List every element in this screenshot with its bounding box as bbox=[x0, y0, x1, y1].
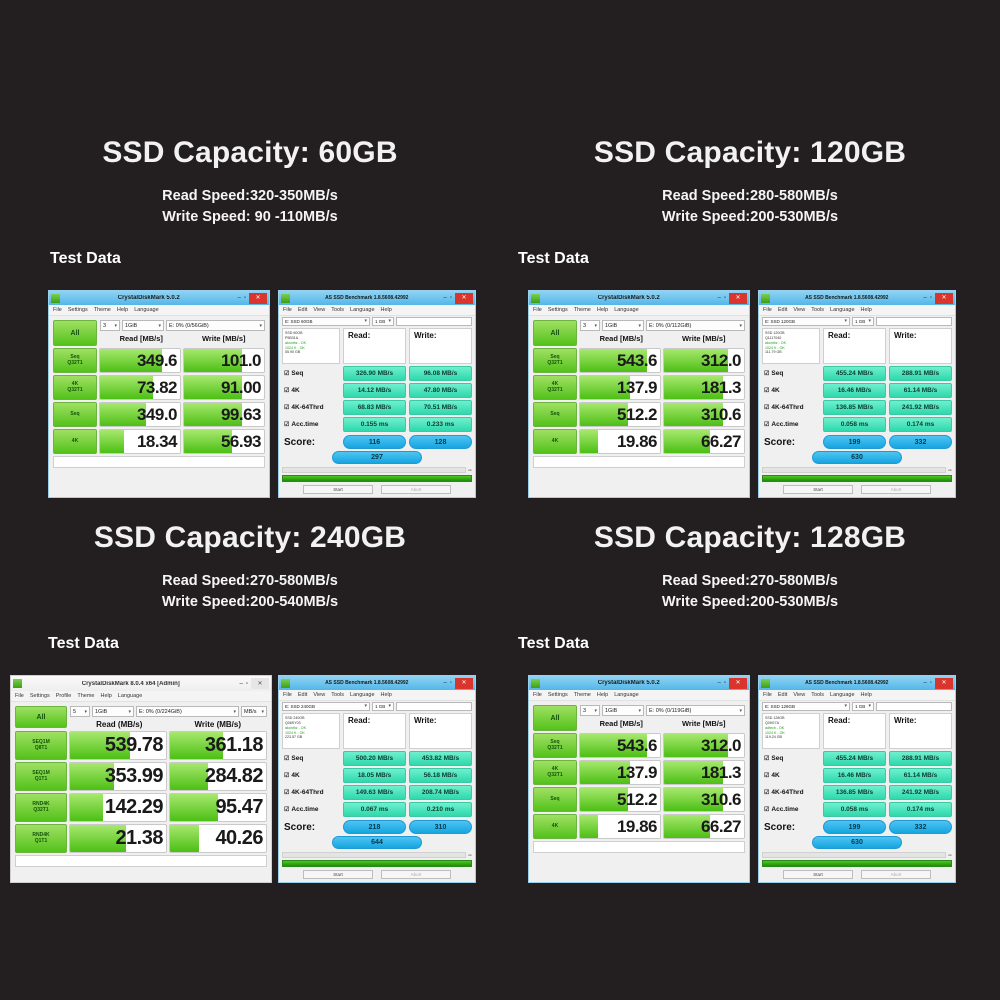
result-row: RND4KQ1T121.3840.26 bbox=[15, 824, 267, 853]
maximize-button[interactable]: ▫ bbox=[246, 681, 248, 687]
menu-item-help[interactable]: Help bbox=[861, 307, 872, 313]
read-value-cell: 142.29 bbox=[69, 793, 167, 822]
screenshot-group: CrystalDiskMark 5.0.2–▫✕FileSettingsThem… bbox=[48, 290, 476, 498]
read-value-cell: 512.2 bbox=[579, 402, 661, 427]
menu-item-help[interactable]: Help bbox=[861, 692, 872, 698]
read-value-cell: 14.12 MB/s bbox=[343, 383, 406, 398]
menu-item-language[interactable]: Language bbox=[350, 307, 374, 313]
result-row: ☑4K16.46 MB/s61.14 MB/s bbox=[762, 383, 952, 398]
minimize-button[interactable]: – bbox=[444, 680, 447, 686]
menu-item-settings[interactable]: Settings bbox=[68, 307, 88, 313]
menu-item-help[interactable]: Help bbox=[597, 692, 608, 698]
row-label[interactable]: 4K bbox=[53, 429, 97, 454]
score-label: Score: bbox=[282, 820, 340, 834]
read-speed-text: Read Speed:320-350MB/s bbox=[0, 186, 500, 207]
window-title: AS SSD Benchmark 1.8.5608.42992 bbox=[293, 680, 441, 686]
read-value-cell: 16.46 MB/s bbox=[823, 383, 886, 398]
test-name: Seq bbox=[291, 755, 303, 762]
row-label[interactable]: Seq bbox=[533, 787, 577, 812]
minimize-button[interactable]: – bbox=[924, 680, 927, 686]
test-checkbox-row[interactable]: ☑Seq bbox=[762, 751, 820, 766]
row-label[interactable]: 4KQ32T1 bbox=[533, 375, 577, 400]
minimize-button[interactable]: – bbox=[240, 681, 243, 687]
menu-item-theme[interactable]: Theme bbox=[574, 307, 591, 313]
menu-item-theme[interactable]: Theme bbox=[94, 307, 111, 313]
test-checkbox-row[interactable]: ☑Acc.time bbox=[762, 417, 820, 432]
write-value-cell: 241.92 MB/s bbox=[889, 785, 952, 800]
close-button[interactable]: ✕ bbox=[455, 678, 473, 689]
close-button[interactable]: ✕ bbox=[729, 678, 747, 689]
checkbox-checked-icon[interactable]: ☑ bbox=[764, 755, 769, 762]
test-size-select[interactable]: 1GiB bbox=[602, 705, 644, 716]
maximize-button[interactable]: ▫ bbox=[930, 680, 932, 686]
value-number: 310.6 bbox=[701, 790, 741, 810]
result-row: 4KQ32T1137.9181.3 bbox=[533, 375, 745, 400]
spacer bbox=[270, 290, 278, 498]
test-name: Seq bbox=[771, 370, 783, 377]
result-row: ☑4K14.12 MB/s47.80 MB/s bbox=[282, 383, 472, 398]
app-icon bbox=[13, 679, 22, 688]
value-number: 101.0 bbox=[221, 351, 261, 371]
capacity-title: SSD Capacity: 60GB bbox=[0, 118, 500, 170]
row-label[interactable]: 4KQ32T1 bbox=[53, 375, 97, 400]
menu-item-theme[interactable]: Theme bbox=[77, 693, 94, 699]
result-row: SeqQ32T1349.6101.0 bbox=[53, 348, 265, 373]
size-select[interactable]: 1 GB bbox=[852, 702, 874, 711]
test-checkbox-row[interactable]: ☑4K-64Thrd bbox=[282, 785, 340, 800]
test-size-select[interactable]: 1GiB bbox=[92, 706, 134, 717]
result-row: SeqQ32T1543.6312.0 bbox=[533, 348, 745, 373]
score-total: 630 bbox=[812, 836, 902, 849]
window-title: AS SSD Benchmark 1.8.5608.42992 bbox=[773, 295, 921, 301]
horizontal-scrollbar[interactable] bbox=[282, 467, 466, 473]
row-label-primary: 4K bbox=[552, 439, 558, 445]
menu-item-view[interactable]: View bbox=[313, 307, 325, 313]
window-controls: –▫✕ bbox=[715, 293, 747, 304]
close-button[interactable]: ✕ bbox=[729, 293, 747, 304]
test-checkbox-row[interactable]: ☑4K-64Thrd bbox=[762, 785, 820, 800]
result-row: ☑Acc.time0.058 ms0.174 ms bbox=[762, 417, 952, 432]
copy-name-field[interactable] bbox=[876, 702, 952, 711]
menu-item-tools[interactable]: Tools bbox=[811, 307, 824, 313]
row-label[interactable]: Seq bbox=[53, 402, 97, 427]
drive-select[interactable]: E: SSD 240GB bbox=[282, 702, 370, 711]
row-label-primary: Seq bbox=[550, 797, 559, 803]
toolbar: E: SSD 120GB1 GB bbox=[759, 316, 955, 326]
drive-select[interactable]: E: 0% (0/112GiB) bbox=[646, 320, 745, 331]
write-value-cell: 0.233 ms bbox=[409, 417, 472, 432]
all-button[interactable]: All bbox=[533, 705, 577, 731]
all-button[interactable]: All bbox=[15, 706, 67, 728]
test-checkbox-row[interactable]: ☑4K-64Thrd bbox=[762, 400, 820, 415]
drive-info-line: 55.90 GB bbox=[285, 350, 337, 355]
write-value-cell: 95.47 bbox=[169, 793, 267, 822]
menu-item-language[interactable]: Language bbox=[118, 693, 142, 699]
menu-item-profile[interactable]: Profile bbox=[56, 693, 72, 699]
test-size-select[interactable]: 1GiB bbox=[602, 320, 644, 331]
checkbox-checked-icon[interactable]: ☑ bbox=[284, 387, 289, 394]
as-ssd-window: AS SSD Benchmark 1.8.5608.42992–▫✕FileEd… bbox=[278, 675, 476, 883]
panel-120gb: SSD Capacity: 120GBRead Speed:280-580MB/… bbox=[500, 118, 1000, 503]
menu-item-help[interactable]: Help bbox=[381, 307, 392, 313]
window-title: AS SSD Benchmark 1.8.5608.42992 bbox=[773, 680, 921, 686]
result-row: SeqQ32T1543.6312.0 bbox=[533, 733, 745, 758]
value-number: 40.26 bbox=[215, 827, 263, 850]
read-value-cell: 19.86 bbox=[579, 814, 661, 839]
app-icon bbox=[531, 679, 540, 688]
menu-bar: FileEditViewToolsLanguageHelp bbox=[759, 690, 955, 701]
maximize-button[interactable]: ▫ bbox=[244, 295, 246, 301]
value-number: 19.86 bbox=[617, 432, 657, 452]
row-label[interactable]: 4K bbox=[533, 429, 577, 454]
test-checkbox-row[interactable]: ☑Seq bbox=[282, 751, 340, 766]
write-value-cell: 56.18 MB/s bbox=[409, 768, 472, 783]
window-controls: –▫✕ bbox=[237, 678, 269, 689]
test-checkbox-row[interactable]: ☑4K bbox=[762, 768, 820, 783]
menu-bar: FileSettingsProfileThemeHelpLanguage bbox=[11, 691, 271, 702]
horizontal-scrollbar[interactable] bbox=[762, 852, 946, 858]
read-column-header: Read [MB/s] bbox=[100, 334, 183, 343]
score-read: 199 bbox=[823, 820, 886, 834]
checkbox-checked-icon[interactable]: ☑ bbox=[764, 772, 769, 779]
checkbox-checked-icon[interactable]: ☑ bbox=[764, 404, 769, 411]
row-label[interactable]: SEQ1MQ1T1 bbox=[15, 762, 67, 791]
read-value-cell: 0.058 ms bbox=[823, 802, 886, 817]
result-rows: SeqQ32T1349.6101.04KQ32T173.8291.00Seq34… bbox=[53, 348, 265, 454]
menu-item-file[interactable]: File bbox=[763, 692, 772, 698]
score-write: 332 bbox=[889, 820, 952, 834]
abort-button[interactable]: Abort bbox=[381, 485, 451, 494]
score-label: Score: bbox=[762, 820, 820, 834]
row-label[interactable]: Seq bbox=[533, 402, 577, 427]
menu-item-edit[interactable]: Edit bbox=[298, 307, 307, 313]
checkbox-checked-icon[interactable]: ☑ bbox=[284, 404, 289, 411]
menu-item-help[interactable]: Help bbox=[117, 307, 128, 313]
result-row: 4KQ32T173.8291.00 bbox=[53, 375, 265, 400]
menu-item-language[interactable]: Language bbox=[614, 692, 638, 698]
menu-item-file[interactable]: File bbox=[15, 693, 24, 699]
progress-bar bbox=[282, 860, 472, 867]
result-row: SEQ1MQ1T1353.99284.82 bbox=[15, 762, 267, 791]
checkbox-checked-icon[interactable]: ☑ bbox=[284, 755, 289, 762]
start-button[interactable]: Start bbox=[783, 485, 853, 494]
scroll-hint: ▸▸ bbox=[468, 468, 472, 472]
score-write: 332 bbox=[889, 435, 952, 449]
minimize-button[interactable]: – bbox=[718, 295, 721, 301]
progress-bar bbox=[762, 475, 952, 482]
read-value-cell: 137.9 bbox=[579, 760, 661, 785]
checkbox-checked-icon[interactable]: ☑ bbox=[764, 387, 769, 394]
all-button[interactable]: All bbox=[53, 320, 97, 346]
screenshot-group: CrystalDiskMark 5.0.2–▫✕FileSettingsThem… bbox=[528, 675, 956, 883]
test-checkbox-row[interactable]: ☑4K bbox=[762, 383, 820, 398]
drive-select[interactable]: E: SSD 60GB bbox=[282, 317, 370, 326]
menu-item-file[interactable]: File bbox=[763, 307, 772, 313]
score-read: 218 bbox=[343, 820, 406, 834]
result-row: ☑4K-64Thrd136.85 MB/s241.92 MB/s bbox=[762, 400, 952, 415]
close-button[interactable]: ✕ bbox=[251, 678, 269, 689]
maximize-button[interactable]: ▫ bbox=[450, 295, 452, 301]
menu-bar: FileEditViewToolsLanguageHelp bbox=[279, 305, 475, 316]
all-button[interactable]: All bbox=[533, 320, 577, 346]
size-select[interactable]: 1 GB bbox=[852, 317, 874, 326]
test-name: Acc.time bbox=[291, 421, 318, 428]
speed-spec: Read Speed:270-580MB/sWrite Speed:200-54… bbox=[0, 571, 500, 613]
menu-item-file[interactable]: File bbox=[533, 307, 542, 313]
scroll-hint: ▸▸ bbox=[948, 468, 952, 472]
maximize-button[interactable]: ▫ bbox=[724, 680, 726, 686]
test-name: 4K bbox=[771, 772, 779, 779]
menu-item-view[interactable]: View bbox=[313, 692, 325, 698]
abort-button[interactable]: Abort bbox=[381, 870, 451, 879]
value-number: 95.47 bbox=[215, 796, 263, 819]
write-value-cell: 288.91 MB/s bbox=[889, 751, 952, 766]
read-value-cell: 512.2 bbox=[579, 787, 661, 812]
write-column-header: Write: bbox=[409, 713, 472, 749]
test-name: 4K-64Thrd bbox=[771, 789, 803, 796]
menu-bar: FileEditViewToolsLanguageHelp bbox=[279, 690, 475, 701]
test-checkbox-row[interactable]: ☑4K bbox=[282, 383, 340, 398]
row-label[interactable]: SeqQ32T1 bbox=[53, 348, 97, 373]
close-button[interactable]: ✕ bbox=[935, 293, 953, 304]
start-button[interactable]: Start bbox=[303, 485, 373, 494]
scroll-hint: ▸▸ bbox=[468, 853, 472, 857]
menu-item-settings[interactable]: Settings bbox=[548, 692, 568, 698]
read-speed-text: Read Speed:270-580MB/s bbox=[0, 571, 500, 592]
result-row: ☑Acc.time0.058 ms0.174 ms bbox=[762, 802, 952, 817]
unit-select[interactable]: MB/s bbox=[241, 706, 267, 717]
menu-item-help[interactable]: Help bbox=[100, 693, 111, 699]
crystaldiskmark-window: CrystalDiskMark 5.0.2–▫✕FileSettingsThem… bbox=[48, 290, 270, 498]
row-label-primary: 4K bbox=[552, 824, 558, 830]
copy-name-field[interactable] bbox=[876, 317, 952, 326]
copy-name-field[interactable] bbox=[396, 317, 472, 326]
read-value-cell: 326.90 MB/s bbox=[343, 366, 406, 381]
write-value-cell: 101.0 bbox=[183, 348, 265, 373]
abort-button[interactable]: Abort bbox=[861, 485, 931, 494]
start-button[interactable]: Start bbox=[783, 870, 853, 879]
test-checkbox-row[interactable]: ☑Acc.time bbox=[282, 417, 340, 432]
read-value-cell: 539.78 bbox=[69, 731, 167, 760]
write-value-cell: 284.82 bbox=[169, 762, 267, 791]
horizontal-scrollbar[interactable] bbox=[762, 467, 946, 473]
test-name: Seq bbox=[771, 755, 783, 762]
row-label[interactable]: 4K bbox=[533, 814, 577, 839]
checkbox-checked-icon[interactable]: ☑ bbox=[284, 421, 289, 428]
window-title: CrystalDiskMark 5.0.2 bbox=[543, 295, 715, 301]
test-data-label: Test Data bbox=[518, 250, 1000, 268]
menu-item-view[interactable]: View bbox=[793, 692, 805, 698]
menu-item-language[interactable]: Language bbox=[830, 692, 854, 698]
test-checkbox-row[interactable]: ☑Seq bbox=[282, 366, 340, 381]
checkbox-checked-icon[interactable]: ☑ bbox=[764, 421, 769, 428]
menu-item-edit[interactable]: Edit bbox=[298, 692, 307, 698]
write-column-header: Write [MB/s] bbox=[663, 334, 746, 343]
menu-item-file[interactable]: File bbox=[283, 692, 292, 698]
row-label[interactable]: 4KQ32T1 bbox=[533, 760, 577, 785]
abort-button[interactable]: Abort bbox=[861, 870, 931, 879]
spacer bbox=[750, 675, 758, 883]
drive-select[interactable]: E: SSD 120GB bbox=[762, 317, 850, 326]
test-name: 4K bbox=[291, 387, 299, 394]
menu-item-help[interactable]: Help bbox=[597, 307, 608, 313]
close-button[interactable]: ✕ bbox=[935, 678, 953, 689]
checkbox-checked-icon[interactable]: ☑ bbox=[284, 370, 289, 377]
row-label-primary: Seq bbox=[550, 412, 559, 418]
drive-select[interactable]: E: SSD 128GB bbox=[762, 702, 850, 711]
checkbox-checked-icon[interactable]: ☑ bbox=[764, 789, 769, 796]
read-speed-text: Read Speed:270-580MB/s bbox=[500, 571, 1000, 592]
row-label[interactable]: RND4KQ1T1 bbox=[15, 824, 67, 853]
read-column-header: Read: bbox=[343, 328, 406, 364]
test-checkbox-row[interactable]: ☑4K bbox=[282, 768, 340, 783]
drive-select[interactable]: E: 0% (0/119GiB) bbox=[646, 705, 745, 716]
row-label-secondary: Q32T1 bbox=[33, 808, 48, 814]
menu-item-language[interactable]: Language bbox=[350, 692, 374, 698]
screenshot-group: CrystalDiskMark 8.0.4 x64 [Admin]–▫✕File… bbox=[10, 675, 476, 883]
row-label[interactable]: SEQ1MQ8T1 bbox=[15, 731, 67, 760]
write-speed-text: Write Speed:200-540MB/s bbox=[0, 592, 500, 613]
checkbox-checked-icon[interactable]: ☑ bbox=[764, 806, 769, 813]
write-value-cell: 56.93 bbox=[183, 429, 265, 454]
score-label: Score: bbox=[282, 435, 340, 449]
menu-item-tools[interactable]: Tools bbox=[331, 307, 344, 313]
menu-item-settings[interactable]: Settings bbox=[548, 307, 568, 313]
run-count-select[interactable]: 3 bbox=[100, 320, 120, 331]
row-label[interactable]: RND4KQ32T1 bbox=[15, 793, 67, 822]
value-number: 543.6 bbox=[617, 736, 657, 756]
test-data-label: Test Data bbox=[518, 635, 1000, 653]
write-value-cell: 70.51 MB/s bbox=[409, 400, 472, 415]
value-number: 353.99 bbox=[105, 765, 163, 788]
spacer bbox=[750, 290, 758, 498]
minimize-button[interactable]: – bbox=[924, 295, 927, 301]
menu-item-help[interactable]: Help bbox=[381, 692, 392, 698]
result-rows: SeqQ32T1543.6312.04KQ32T1137.9181.3Seq51… bbox=[533, 348, 745, 454]
row-label[interactable]: SeqQ32T1 bbox=[533, 348, 577, 373]
app-icon bbox=[281, 679, 290, 688]
row-label-secondary: Q1T1 bbox=[35, 839, 48, 845]
test-data-label: Test Data bbox=[50, 250, 500, 268]
read-speed-text: Read Speed:280-580MB/s bbox=[500, 186, 1000, 207]
maximize-button[interactable]: ▫ bbox=[724, 295, 726, 301]
menu-item-language[interactable]: Language bbox=[134, 307, 158, 313]
maximize-button[interactable]: ▫ bbox=[930, 295, 932, 301]
run-count-select[interactable]: 3 bbox=[580, 320, 600, 331]
write-value-cell: 91.00 bbox=[183, 375, 265, 400]
close-button[interactable]: ✕ bbox=[455, 293, 473, 304]
menu-item-view[interactable]: View bbox=[793, 307, 805, 313]
minimize-button[interactable]: – bbox=[238, 295, 241, 301]
checkbox-checked-icon[interactable]: ☑ bbox=[284, 806, 289, 813]
menu-item-edit[interactable]: Edit bbox=[778, 307, 787, 313]
horizontal-scrollbar[interactable] bbox=[282, 852, 466, 858]
test-checkbox-row[interactable]: ☑4K-64Thrd bbox=[282, 400, 340, 415]
row-label-secondary: Q32T1 bbox=[67, 388, 82, 394]
test-name: 4K-64Thrd bbox=[291, 404, 323, 411]
score-write: 310 bbox=[409, 820, 472, 834]
test-size-select[interactable]: 1GiB bbox=[122, 320, 164, 331]
capacity-title: SSD Capacity: 240GB bbox=[0, 503, 500, 555]
value-bar bbox=[170, 825, 199, 852]
menu-item-edit[interactable]: Edit bbox=[778, 692, 787, 698]
menu-item-tools[interactable]: Tools bbox=[331, 692, 344, 698]
row-label-secondary: Q32T1 bbox=[547, 388, 562, 394]
window-controls: –▫✕ bbox=[715, 678, 747, 689]
menu-item-theme[interactable]: Theme bbox=[574, 692, 591, 698]
drive-select[interactable]: E: 0% (0/56GiB) bbox=[166, 320, 265, 331]
read-value-cell: 73.82 bbox=[99, 375, 181, 400]
run-count-select[interactable]: 3 bbox=[580, 705, 600, 716]
row-label-primary: Seq bbox=[70, 412, 79, 418]
window-title: CrystalDiskMark 5.0.2 bbox=[63, 295, 235, 301]
menu-item-file[interactable]: File bbox=[53, 307, 62, 313]
menu-item-language[interactable]: Language bbox=[830, 307, 854, 313]
drive-info-panel: SSD 120GBQ1117040akonthz - OK1024 K - OK… bbox=[762, 328, 820, 364]
read-column-header: Read [MB/s] bbox=[580, 719, 663, 728]
capacity-title: SSD Capacity: 120GB bbox=[500, 118, 1000, 170]
test-checkbox-row[interactable]: ☑Seq bbox=[762, 366, 820, 381]
menu-item-tools[interactable]: Tools bbox=[811, 692, 824, 698]
test-name: Acc.time bbox=[771, 421, 798, 428]
row-label[interactable]: SeqQ32T1 bbox=[533, 733, 577, 758]
result-row: ☑Acc.time0.155 ms0.233 ms bbox=[282, 417, 472, 432]
write-speed-text: Write Speed:200-530MB/s bbox=[500, 207, 1000, 228]
drive-select[interactable]: E: 0% (0/224GiB) bbox=[136, 706, 239, 717]
score-write: 128 bbox=[409, 435, 472, 449]
window-title: CrystalDiskMark 5.0.2 bbox=[543, 680, 715, 686]
window-controls: –▫✕ bbox=[441, 293, 473, 304]
crystaldiskmark-window: CrystalDiskMark 5.0.2–▫✕FileSettingsThem… bbox=[528, 675, 750, 883]
close-button[interactable]: ✕ bbox=[249, 293, 267, 304]
checkbox-checked-icon[interactable]: ☑ bbox=[284, 772, 289, 779]
read-value-cell: 353.99 bbox=[69, 762, 167, 791]
test-checkbox-row[interactable]: ☑Acc.time bbox=[762, 802, 820, 817]
menu-item-file[interactable]: File bbox=[283, 307, 292, 313]
as-ssd-window: AS SSD Benchmark 1.8.5608.42992–▫✕FileEd… bbox=[278, 290, 476, 498]
result-row: ☑Seq500.20 MB/s453.82 MB/s bbox=[282, 751, 472, 766]
menu-item-language[interactable]: Language bbox=[614, 307, 638, 313]
start-button[interactable]: Start bbox=[303, 870, 373, 879]
copy-name-field[interactable] bbox=[396, 702, 472, 711]
read-value-cell: 149.63 MB/s bbox=[343, 785, 406, 800]
test-name: 4K bbox=[771, 387, 779, 394]
app-icon bbox=[531, 294, 540, 303]
test-checkbox-row[interactable]: ☑Acc.time bbox=[282, 802, 340, 817]
menu-item-file[interactable]: File bbox=[533, 692, 542, 698]
checkbox-checked-icon[interactable]: ☑ bbox=[764, 370, 769, 377]
menu-item-settings[interactable]: Settings bbox=[30, 693, 50, 699]
size-select[interactable]: 1 GB bbox=[372, 702, 394, 711]
result-rows: SeqQ32T1543.6312.04KQ32T1137.9181.3Seq51… bbox=[533, 733, 745, 839]
value-number: 539.78 bbox=[105, 734, 163, 757]
toolbar: E: SSD 60GB1 GB bbox=[279, 316, 475, 326]
minimize-button[interactable]: – bbox=[718, 680, 721, 686]
score-read: 116 bbox=[343, 435, 406, 449]
app-icon bbox=[761, 294, 770, 303]
read-value-cell: 19.86 bbox=[579, 429, 661, 454]
checkbox-checked-icon[interactable]: ☑ bbox=[284, 789, 289, 796]
result-row: ☑Seq326.90 MB/s96.08 MB/s bbox=[282, 366, 472, 381]
value-number: 21.38 bbox=[115, 827, 163, 850]
app-icon bbox=[761, 679, 770, 688]
run-count-select[interactable]: 5 bbox=[70, 706, 90, 717]
value-number: 349.0 bbox=[137, 405, 177, 425]
read-column-header: Read: bbox=[823, 713, 886, 749]
minimize-button[interactable]: – bbox=[444, 295, 447, 301]
maximize-button[interactable]: ▫ bbox=[450, 680, 452, 686]
size-select[interactable]: 1 GB bbox=[372, 317, 394, 326]
